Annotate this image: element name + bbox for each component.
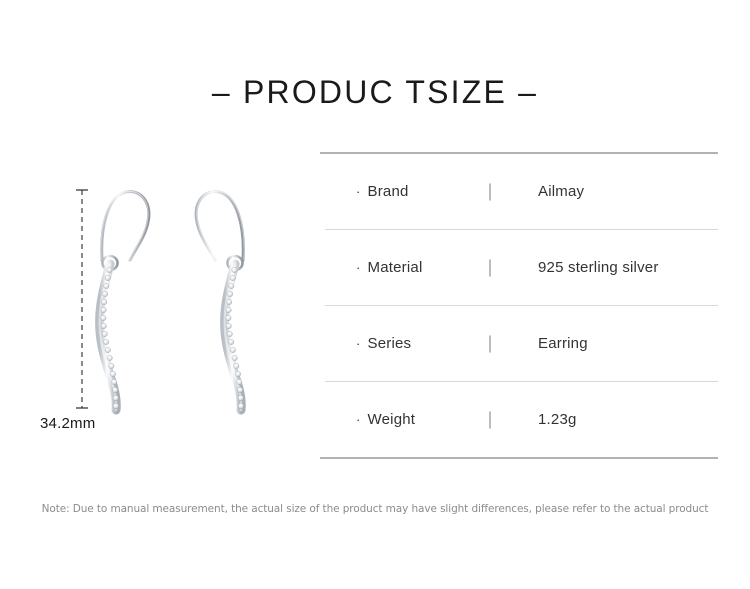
earring-left (100, 191, 149, 410)
table-bottom-rule (320, 457, 718, 459)
column-divider (489, 259, 491, 276)
bullet-icon: · (356, 413, 361, 426)
bullet-icon: · (356, 185, 361, 198)
spec-value-series: Earring (490, 335, 588, 352)
table-row: · Weight 1.23g (320, 382, 718, 457)
spec-value-material: 925 sterling silver (490, 259, 659, 276)
earring-right (196, 191, 244, 410)
dimension-line (76, 190, 88, 408)
spec-key-label: Brand (368, 183, 409, 200)
table-row: · Series Earring (320, 306, 718, 381)
spec-key-brand: · Brand (320, 183, 490, 200)
bullet-icon: · (356, 337, 361, 350)
spec-value-brand: Ailmay (490, 183, 584, 200)
product-image (30, 160, 300, 440)
spec-key-label: Series (368, 335, 412, 352)
column-divider (489, 335, 491, 352)
disclaimer-note: Note: Due to manual measurement, the act… (0, 503, 750, 515)
spec-table: · Brand Ailmay · Material 925 sterling s… (320, 152, 718, 459)
page-title: – PRODUC TSIZE – (0, 74, 750, 111)
dimension-label: 34.2mm (40, 415, 95, 432)
table-row: · Brand Ailmay (320, 154, 718, 229)
table-row: · Material 925 sterling silver (320, 230, 718, 305)
bullet-icon: · (356, 261, 361, 274)
column-divider (489, 183, 491, 200)
spec-key-weight: · Weight (320, 411, 490, 428)
spec-key-label: Weight (368, 411, 416, 428)
spec-key-series: · Series (320, 335, 490, 352)
spec-value-weight: 1.23g (490, 411, 577, 428)
column-divider (489, 411, 491, 428)
spec-key-material: · Material (320, 259, 490, 276)
spec-key-label: Material (368, 259, 423, 276)
